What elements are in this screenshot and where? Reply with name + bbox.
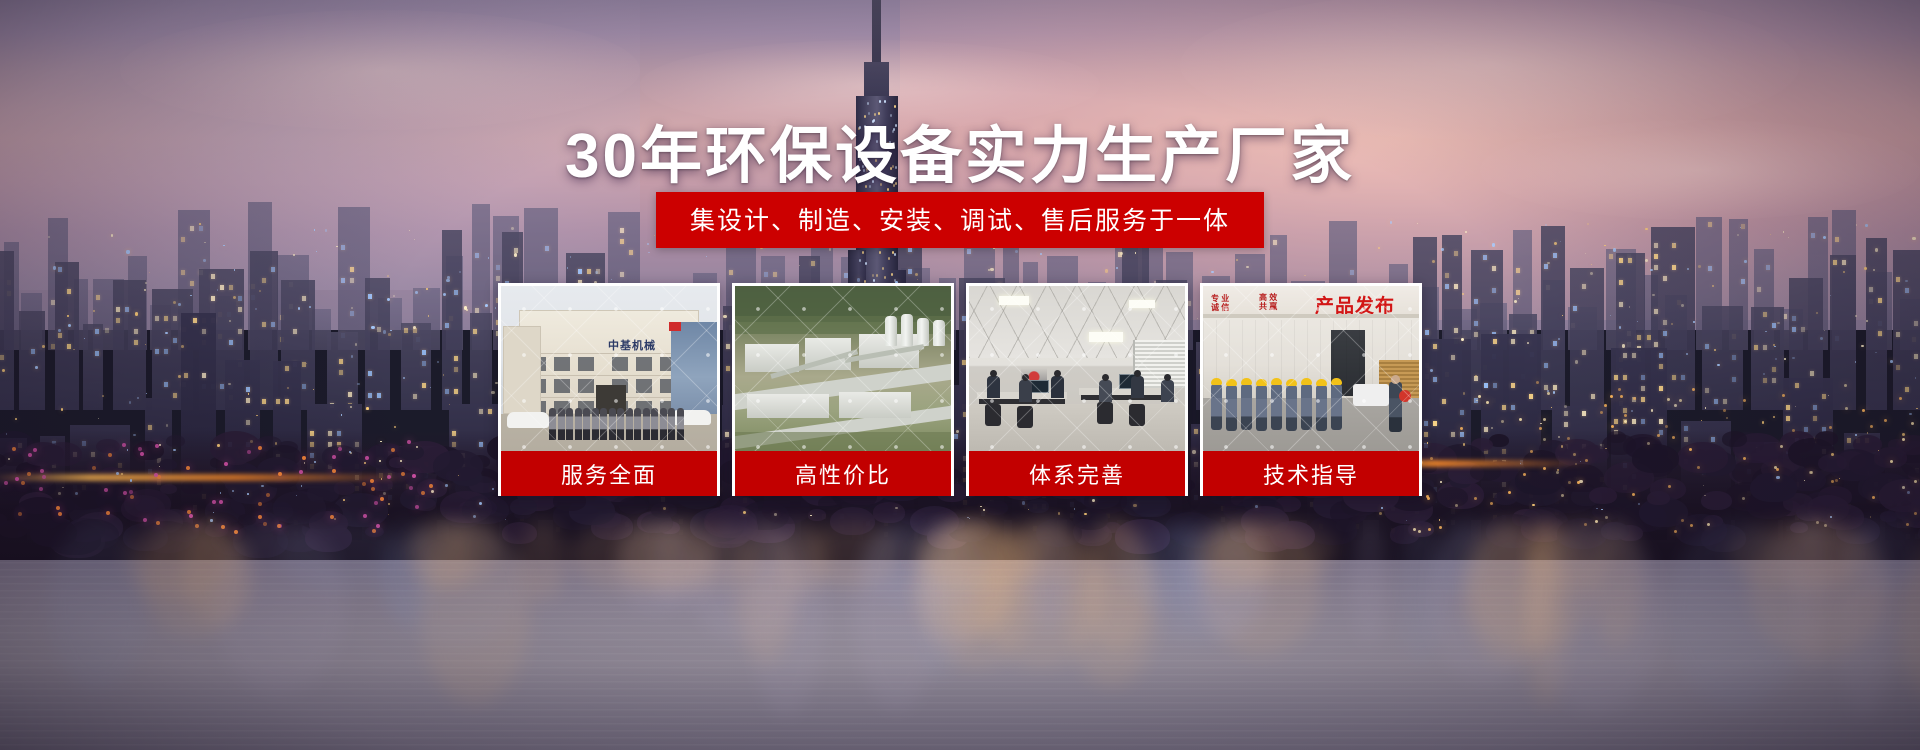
hero-banner: 30年环保设备实力生产厂家 集设计、制造、安装、调试、售后服务于一体 中基机械 <box>0 0 1920 750</box>
staff-figure <box>600 408 607 440</box>
feature-card[interactable]: 体系完善 <box>966 283 1188 496</box>
hard-hat <box>1331 378 1342 385</box>
person-figure <box>1019 380 1032 402</box>
person-head <box>1164 374 1171 381</box>
hard-hat <box>1271 378 1282 385</box>
hard-hat <box>1226 379 1237 386</box>
staff-figure <box>575 408 582 440</box>
staff-figure <box>617 408 624 440</box>
card-label: 高性价比 <box>735 451 951 496</box>
worker-figure <box>1256 385 1267 431</box>
worker-figure <box>1301 384 1312 430</box>
person-figure <box>987 376 1000 398</box>
person-figure <box>1131 376 1144 398</box>
banner-content: 30年环保设备实力生产厂家 集设计、制造、安装、调试、售后服务于一体 中基机械 <box>0 0 1920 750</box>
staff-figure <box>566 408 573 440</box>
worker-figure <box>1226 385 1237 431</box>
person-figure <box>1051 376 1064 398</box>
person-head <box>1022 374 1029 381</box>
card-label: 服务全面 <box>501 451 717 496</box>
person-figure <box>1099 380 1112 402</box>
hard-hat <box>1256 379 1267 386</box>
person-head <box>1102 374 1109 381</box>
instructor-figure <box>1389 382 1402 432</box>
feature-card[interactable]: 中基机械 <box>498 283 720 496</box>
worker-figure <box>1331 384 1342 430</box>
instructor-head <box>1391 375 1400 384</box>
worker-figure <box>1211 384 1222 430</box>
staff-figure <box>592 408 599 440</box>
staff-figure <box>677 408 684 440</box>
staff-figure <box>609 408 616 440</box>
banner-headline: 30年环保设备实力生产厂家 <box>0 105 1920 195</box>
banner-subtitle-bar: 集设计、制造、安装、调试、售后服务于一体 <box>656 192 1264 248</box>
card-label: 体系完善 <box>969 451 1185 496</box>
hard-hat <box>1241 378 1252 385</box>
staff-figure <box>583 408 590 440</box>
worker-figure <box>1271 384 1282 430</box>
person-head <box>1134 370 1141 377</box>
feature-card[interactable]: 产品发布 专 业诚 信 高 效共 赢 技术指导 <box>1200 283 1422 496</box>
staff-figure <box>643 408 650 440</box>
staff-figure <box>668 408 675 440</box>
card-photo-factory-workers: 产品发布 专 业诚 信 高 效共 赢 <box>1203 286 1419 451</box>
hard-hat <box>1286 379 1297 386</box>
staff-figure <box>626 408 633 440</box>
red-hard-hat <box>1399 390 1411 402</box>
person-figure <box>1161 380 1174 402</box>
staff-figure <box>634 408 641 440</box>
person-head <box>1054 370 1061 377</box>
hard-hat <box>1316 379 1327 386</box>
card-photo-industrial-plant <box>735 286 951 451</box>
staff-figure <box>558 408 565 440</box>
staff-figure <box>549 408 556 440</box>
feature-card[interactable]: 高性价比 <box>732 283 954 496</box>
hard-hat <box>1211 378 1222 385</box>
worker-figure <box>1316 385 1327 431</box>
company-sign-text: 中基机械 <box>578 338 686 351</box>
card-photo-office-building: 中基机械 <box>501 286 717 451</box>
worker-figure <box>1286 385 1297 431</box>
person-head <box>990 370 997 377</box>
staff-figure <box>660 408 667 440</box>
card-photo-office-interior <box>969 286 1185 451</box>
worker-figure <box>1241 384 1252 430</box>
staff-figure <box>651 408 658 440</box>
feature-card-list: 中基机械 <box>498 283 1422 496</box>
hard-hat <box>1301 378 1312 385</box>
card-label: 技术指导 <box>1203 451 1419 496</box>
